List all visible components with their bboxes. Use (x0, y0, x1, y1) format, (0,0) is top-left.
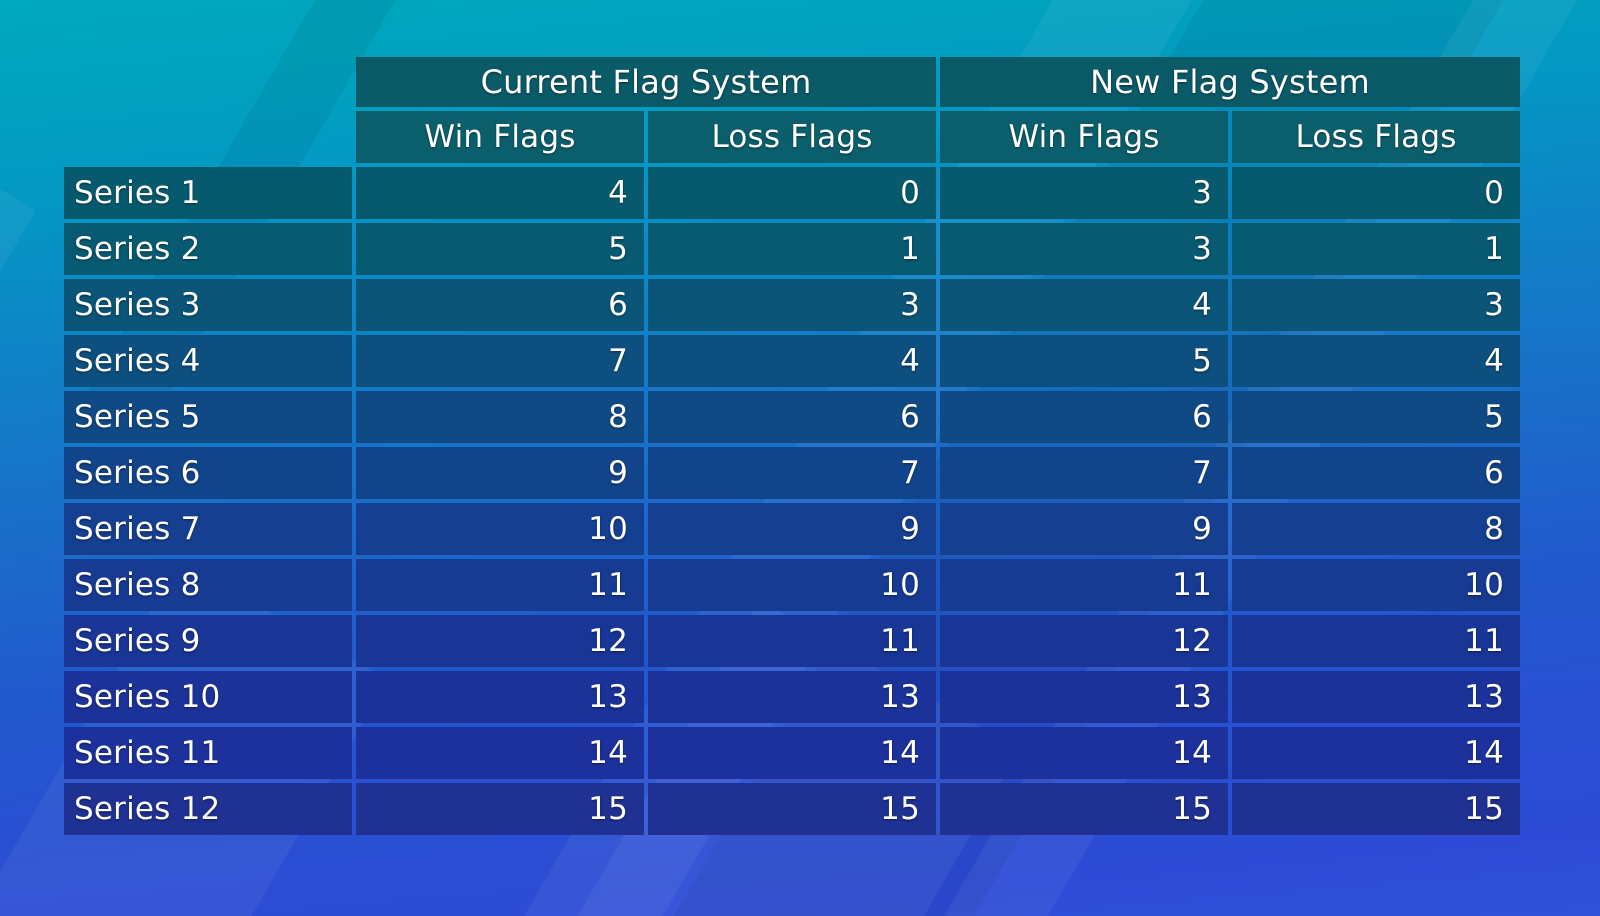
cell-current-win: 12 (356, 615, 644, 667)
cell-current-win: 14 (356, 727, 644, 779)
cell-new-win: 6 (940, 391, 1228, 443)
flag-comparison-table: Current Flag System New Flag System Win … (60, 53, 1524, 839)
cell-current-loss: 13 (648, 671, 936, 723)
row-label: Series 3 (64, 279, 352, 331)
row-label: Series 9 (64, 615, 352, 667)
cell-new-win: 11 (940, 559, 1228, 611)
row-label: Series 2 (64, 223, 352, 275)
table-row: Series 9 12 11 12 11 (64, 615, 1520, 667)
table-row: Series 11 14 14 14 14 (64, 727, 1520, 779)
cell-new-loss: 8 (1232, 503, 1520, 555)
cell-new-win: 14 (940, 727, 1228, 779)
cell-current-loss: 14 (648, 727, 936, 779)
row-label: Series 7 (64, 503, 352, 555)
cell-current-win: 7 (356, 335, 644, 387)
column-header-row: Win Flags Loss Flags Win Flags Loss Flag… (64, 111, 1520, 163)
cell-current-win: 5 (356, 223, 644, 275)
cell-current-win: 10 (356, 503, 644, 555)
cell-new-loss: 13 (1232, 671, 1520, 723)
cell-new-loss: 0 (1232, 167, 1520, 219)
row-label: Series 1 (64, 167, 352, 219)
cell-current-loss: 1 (648, 223, 936, 275)
cell-new-win: 3 (940, 223, 1228, 275)
row-label: Series 12 (64, 783, 352, 835)
cell-new-win: 5 (940, 335, 1228, 387)
cell-new-loss: 15 (1232, 783, 1520, 835)
cell-new-win: 12 (940, 615, 1228, 667)
cell-current-loss: 3 (648, 279, 936, 331)
cell-new-win: 3 (940, 167, 1228, 219)
table-row: Series 4 7 4 5 4 (64, 335, 1520, 387)
column-header-new-loss-flags: Loss Flags (1232, 111, 1520, 163)
cell-current-loss: 10 (648, 559, 936, 611)
table-row: Series 12 15 15 15 15 (64, 783, 1520, 835)
table-row: Series 7 10 9 9 8 (64, 503, 1520, 555)
cell-new-loss: 3 (1232, 279, 1520, 331)
cell-current-win: 4 (356, 167, 644, 219)
table-head: Current Flag System New Flag System Win … (64, 57, 1520, 163)
cell-new-win: 13 (940, 671, 1228, 723)
table-row: Series 6 9 7 7 6 (64, 447, 1520, 499)
cell-current-win: 6 (356, 279, 644, 331)
cell-current-win: 13 (356, 671, 644, 723)
cell-current-loss: 9 (648, 503, 936, 555)
cell-new-win: 7 (940, 447, 1228, 499)
table-row: Series 1 4 0 3 0 (64, 167, 1520, 219)
comparison-table-container: Current Flag System New Flag System Win … (60, 53, 1520, 839)
group-header-current-flag-system: Current Flag System (356, 57, 936, 107)
table-body: Series 1 4 0 3 0 Series 2 5 1 3 1 Series… (64, 167, 1520, 835)
row-label: Series 6 (64, 447, 352, 499)
column-header-new-win-flags: Win Flags (940, 111, 1228, 163)
cell-new-loss: 11 (1232, 615, 1520, 667)
table-row: Series 2 5 1 3 1 (64, 223, 1520, 275)
cell-current-loss: 6 (648, 391, 936, 443)
cell-new-loss: 5 (1232, 391, 1520, 443)
cell-new-loss: 4 (1232, 335, 1520, 387)
cell-current-loss: 0 (648, 167, 936, 219)
corner-cell (64, 57, 352, 107)
cell-current-win: 11 (356, 559, 644, 611)
cell-new-loss: 14 (1232, 727, 1520, 779)
cell-new-loss: 6 (1232, 447, 1520, 499)
cell-current-loss: 11 (648, 615, 936, 667)
column-header-current-loss-flags: Loss Flags (648, 111, 936, 163)
table-row: Series 3 6 3 4 3 (64, 279, 1520, 331)
row-label-header (64, 111, 352, 163)
slide-canvas: Current Flag System New Flag System Win … (0, 0, 1600, 916)
row-label: Series 11 (64, 727, 352, 779)
cell-new-loss: 10 (1232, 559, 1520, 611)
cell-current-loss: 15 (648, 783, 936, 835)
cell-new-win: 4 (940, 279, 1228, 331)
cell-new-loss: 1 (1232, 223, 1520, 275)
group-header-new-flag-system: New Flag System (940, 57, 1520, 107)
table-row: Series 8 11 10 11 10 (64, 559, 1520, 611)
table-row: Series 10 13 13 13 13 (64, 671, 1520, 723)
cell-new-win: 15 (940, 783, 1228, 835)
cell-new-win: 9 (940, 503, 1228, 555)
cell-current-loss: 7 (648, 447, 936, 499)
group-header-row: Current Flag System New Flag System (64, 57, 1520, 107)
column-header-current-win-flags: Win Flags (356, 111, 644, 163)
cell-current-win: 9 (356, 447, 644, 499)
row-label: Series 4 (64, 335, 352, 387)
row-label: Series 10 (64, 671, 352, 723)
row-label: Series 8 (64, 559, 352, 611)
row-label: Series 5 (64, 391, 352, 443)
cell-current-win: 15 (356, 783, 644, 835)
cell-current-loss: 4 (648, 335, 936, 387)
cell-current-win: 8 (356, 391, 644, 443)
table-row: Series 5 8 6 6 5 (64, 391, 1520, 443)
